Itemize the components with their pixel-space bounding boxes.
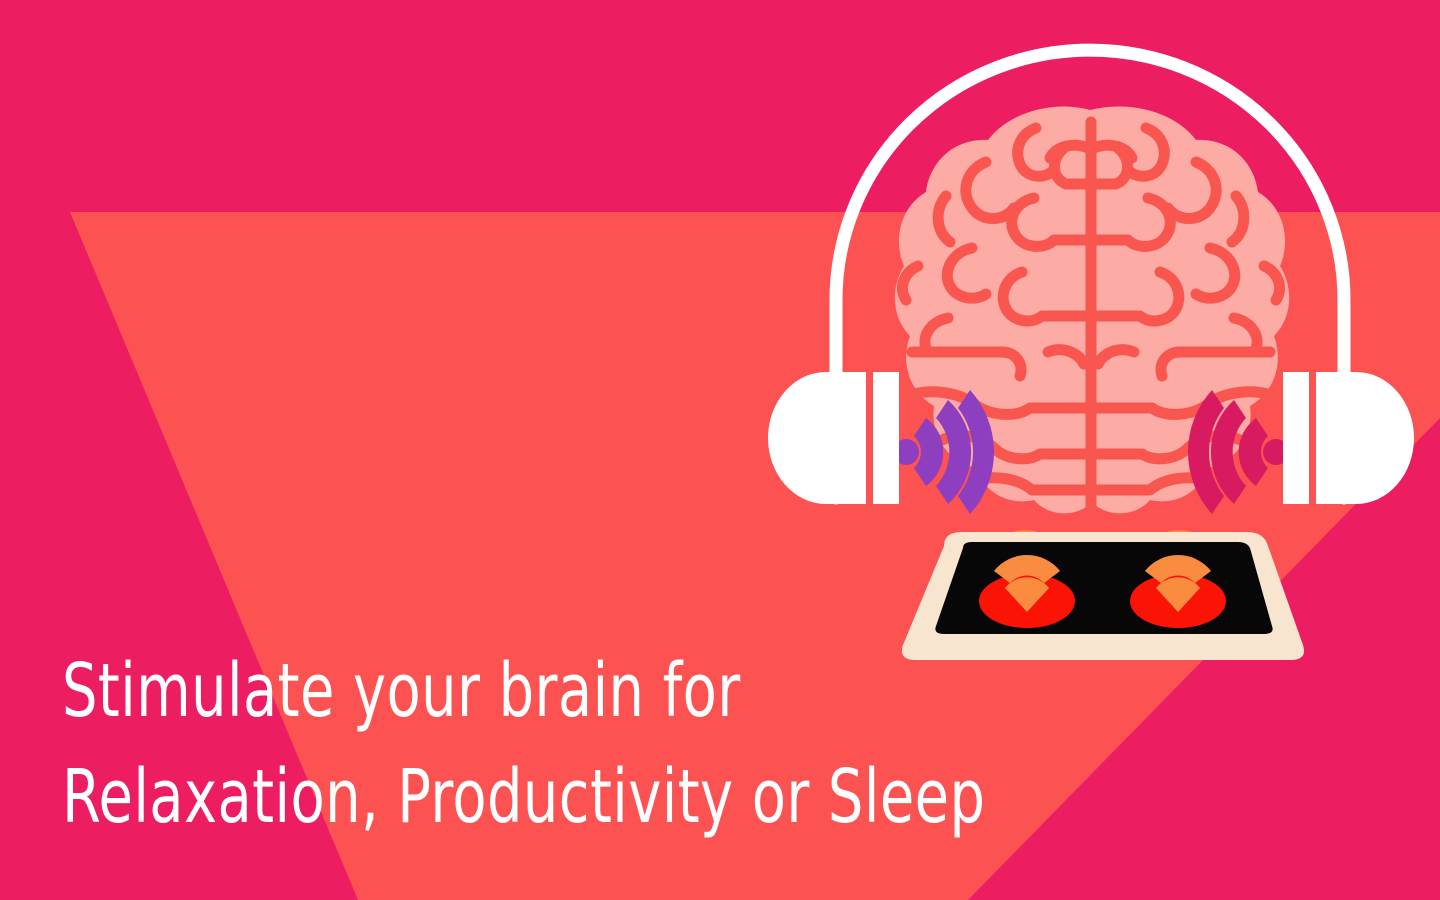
right-earcup-cushion xyxy=(1316,372,1414,504)
headline-line-2: Relaxation, Productivity or Sleep xyxy=(62,744,1020,850)
left-earcup xyxy=(768,372,899,504)
right-sound-waves xyxy=(1188,390,1289,514)
right-earcup xyxy=(1283,372,1414,504)
left-earcup-cushion xyxy=(768,372,866,504)
right-earcup-driver xyxy=(1283,372,1309,504)
left-earcup-driver xyxy=(873,372,899,504)
headline: Stimulate your brain for Relaxation, Pro… xyxy=(62,638,1020,850)
headline-line-1: Stimulate your brain for xyxy=(62,638,1020,744)
left-sound-waves xyxy=(893,390,994,514)
promo-banner: Stimulate your brain for Relaxation, Pro… xyxy=(0,0,1440,900)
